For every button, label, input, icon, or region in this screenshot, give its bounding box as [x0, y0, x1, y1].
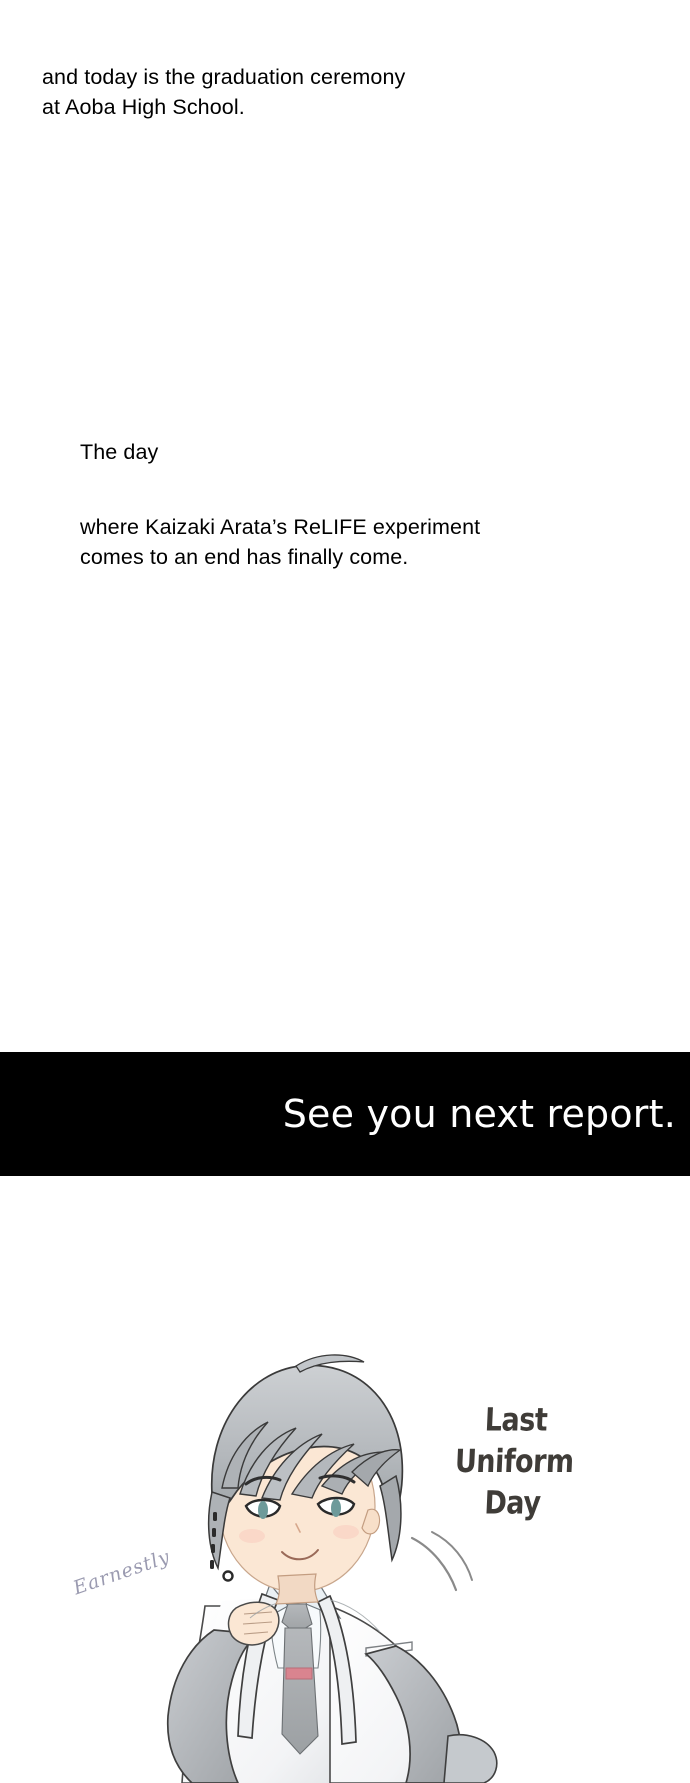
manga-page: and today is the graduation ceremony at … [0, 0, 690, 1783]
small-circle-mark [224, 1572, 233, 1581]
caption-last-uniform-day: Last Uniform Day [446, 1400, 582, 1524]
right-hand [444, 1735, 497, 1783]
necktie [282, 1628, 318, 1754]
character-illustration [0, 1176, 690, 1783]
chibi-character-drawing [0, 1176, 690, 1783]
narration-experiment: where Kaizaki Arata’s ReLIFE experiment … [80, 512, 640, 572]
necktie-stripe [286, 1668, 312, 1679]
narration-the-day: The day [80, 437, 600, 467]
character-head [209, 1355, 403, 1604]
motion-arc-1 [412, 1538, 456, 1590]
motion-arc-2 [432, 1532, 472, 1580]
closing-banner: See you next report. [0, 1052, 690, 1176]
neck [276, 1574, 318, 1604]
iris-right [331, 1499, 341, 1517]
uniform-body [168, 1582, 497, 1783]
narration-opening: and today is the graduation ceremony at … [42, 62, 602, 122]
iris-left [258, 1501, 268, 1519]
closing-banner-text: See you next report. [283, 1095, 676, 1133]
